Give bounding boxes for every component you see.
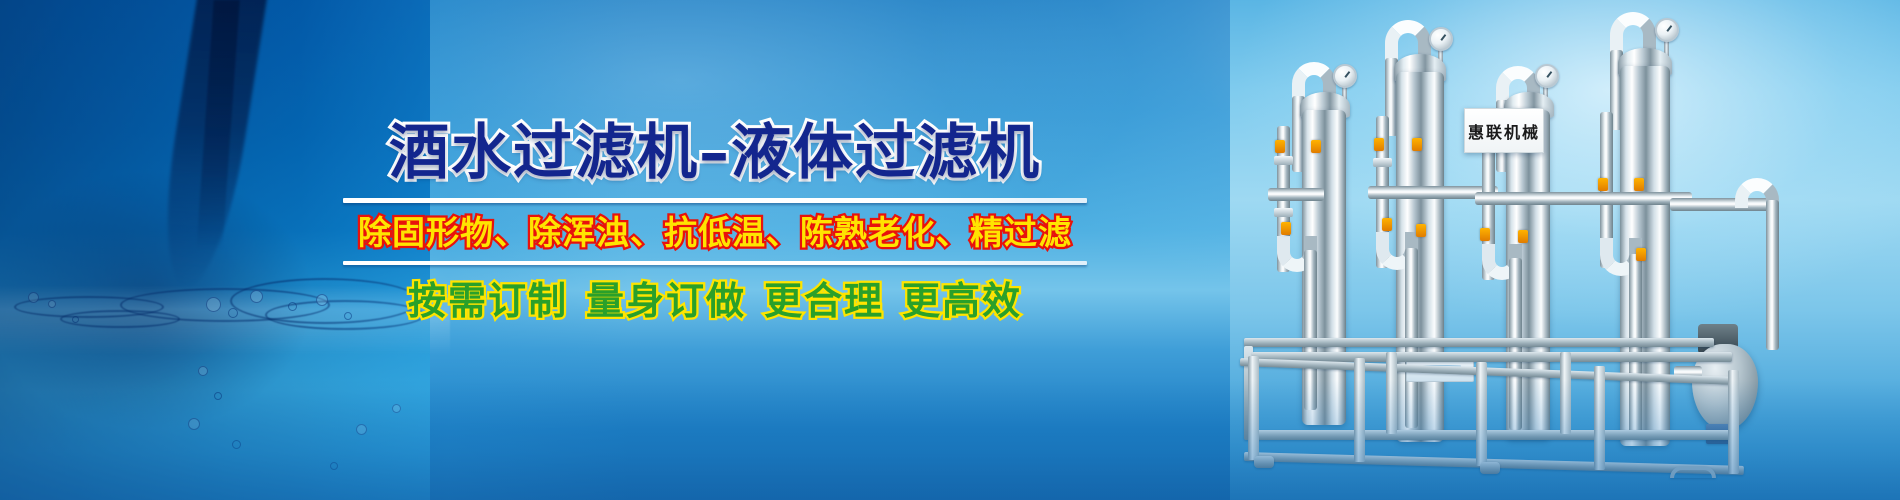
- pipe-clamp: [1274, 208, 1293, 217]
- frame-rail-bottom: [1256, 430, 1734, 440]
- frame-post-rear: [1560, 352, 1571, 434]
- water-bubble: [232, 440, 241, 449]
- title-divider: [343, 198, 1087, 203]
- pipe-horizontal: [1268, 188, 1324, 201]
- valve-handle: [1374, 138, 1384, 151]
- pipe-horizontal: [1475, 192, 1605, 205]
- pressure-gauge-icon: [1429, 27, 1453, 51]
- water-ripple: [60, 310, 180, 328]
- pipe-vertical: [1304, 250, 1317, 410]
- frame-post: [1728, 370, 1739, 474]
- pressure-gauge-icon: [1535, 64, 1559, 88]
- page-title: 酒水过滤机–液体过滤机: [330, 118, 1100, 188]
- water-bubble: [198, 366, 208, 376]
- caster-wheel: [1480, 462, 1500, 474]
- frame-post: [1248, 356, 1259, 460]
- frame-post-rear: [1386, 352, 1397, 434]
- banner-tagline: 按需订制量身订做更合理更高效: [330, 277, 1100, 325]
- machine-nameplate: 惠联机械: [1464, 108, 1544, 153]
- valve-handle: [1634, 178, 1644, 191]
- frame-post: [1354, 358, 1365, 462]
- valve-handle: [1480, 228, 1490, 241]
- tagline-part-2: 量身订做: [586, 279, 746, 323]
- frame-post: [1594, 366, 1605, 470]
- pipe-clamp: [1274, 156, 1293, 165]
- tagline-part-1: 按需订制: [408, 279, 568, 323]
- water-bubble: [288, 302, 297, 311]
- tagline-part-3: 更合理: [764, 279, 884, 323]
- valve-handle: [1275, 140, 1285, 153]
- pressure-gauge-icon: [1655, 18, 1679, 42]
- valve-handle: [1311, 140, 1321, 153]
- valve-handle: [1416, 224, 1426, 237]
- water-bubble: [28, 292, 39, 303]
- frame-post: [1476, 362, 1487, 466]
- water-stream-icon: [152, 0, 269, 290]
- filter-machine-photo: 惠联机械: [1230, 0, 1900, 500]
- pipe-clamp: [1373, 158, 1392, 167]
- tagline-part-4: 更高效: [902, 279, 1022, 323]
- banner-text-block: 酒水过滤机–液体过滤机 除固形物、除浑浊、抗低温、陈熟老化、精过滤 按需订制量身…: [330, 118, 1100, 325]
- frame-rail-top-back: [1244, 338, 1714, 347]
- valve-handle: [1281, 222, 1291, 235]
- valve-handle: [1382, 218, 1392, 231]
- valve-handle: [1636, 248, 1646, 261]
- valve-handle: [1412, 138, 1422, 151]
- pressure-gauge-icon: [1333, 64, 1357, 88]
- valve-handle: [1518, 230, 1528, 243]
- product-banner: 惠联机械 酒水过滤机–液体过滤机 除固形物、除浑浊、抗低温、陈熟老化、精过滤 按…: [0, 0, 1900, 500]
- water-bubble: [206, 297, 221, 312]
- caster-wheel: [1254, 456, 1274, 468]
- water-bubble: [228, 308, 238, 318]
- water-stream-secondary-icon: [196, 0, 239, 250]
- water-bubble: [48, 300, 56, 308]
- subtitle-divider: [343, 261, 1087, 265]
- valve-handle: [1598, 178, 1608, 191]
- banner-subtitle: 除固形物、除浑浊、抗低温、陈熟老化、精过滤: [330, 212, 1100, 254]
- frame-foot-loop: [1670, 466, 1716, 478]
- water-ripple: [14, 296, 164, 318]
- outlet-pipe-vertical: [1766, 200, 1779, 350]
- water-bubble: [214, 392, 222, 400]
- water-bubble: [72, 316, 79, 323]
- water-bubble: [250, 290, 263, 303]
- water-bubble: [188, 418, 200, 430]
- water-ripple: [120, 288, 330, 322]
